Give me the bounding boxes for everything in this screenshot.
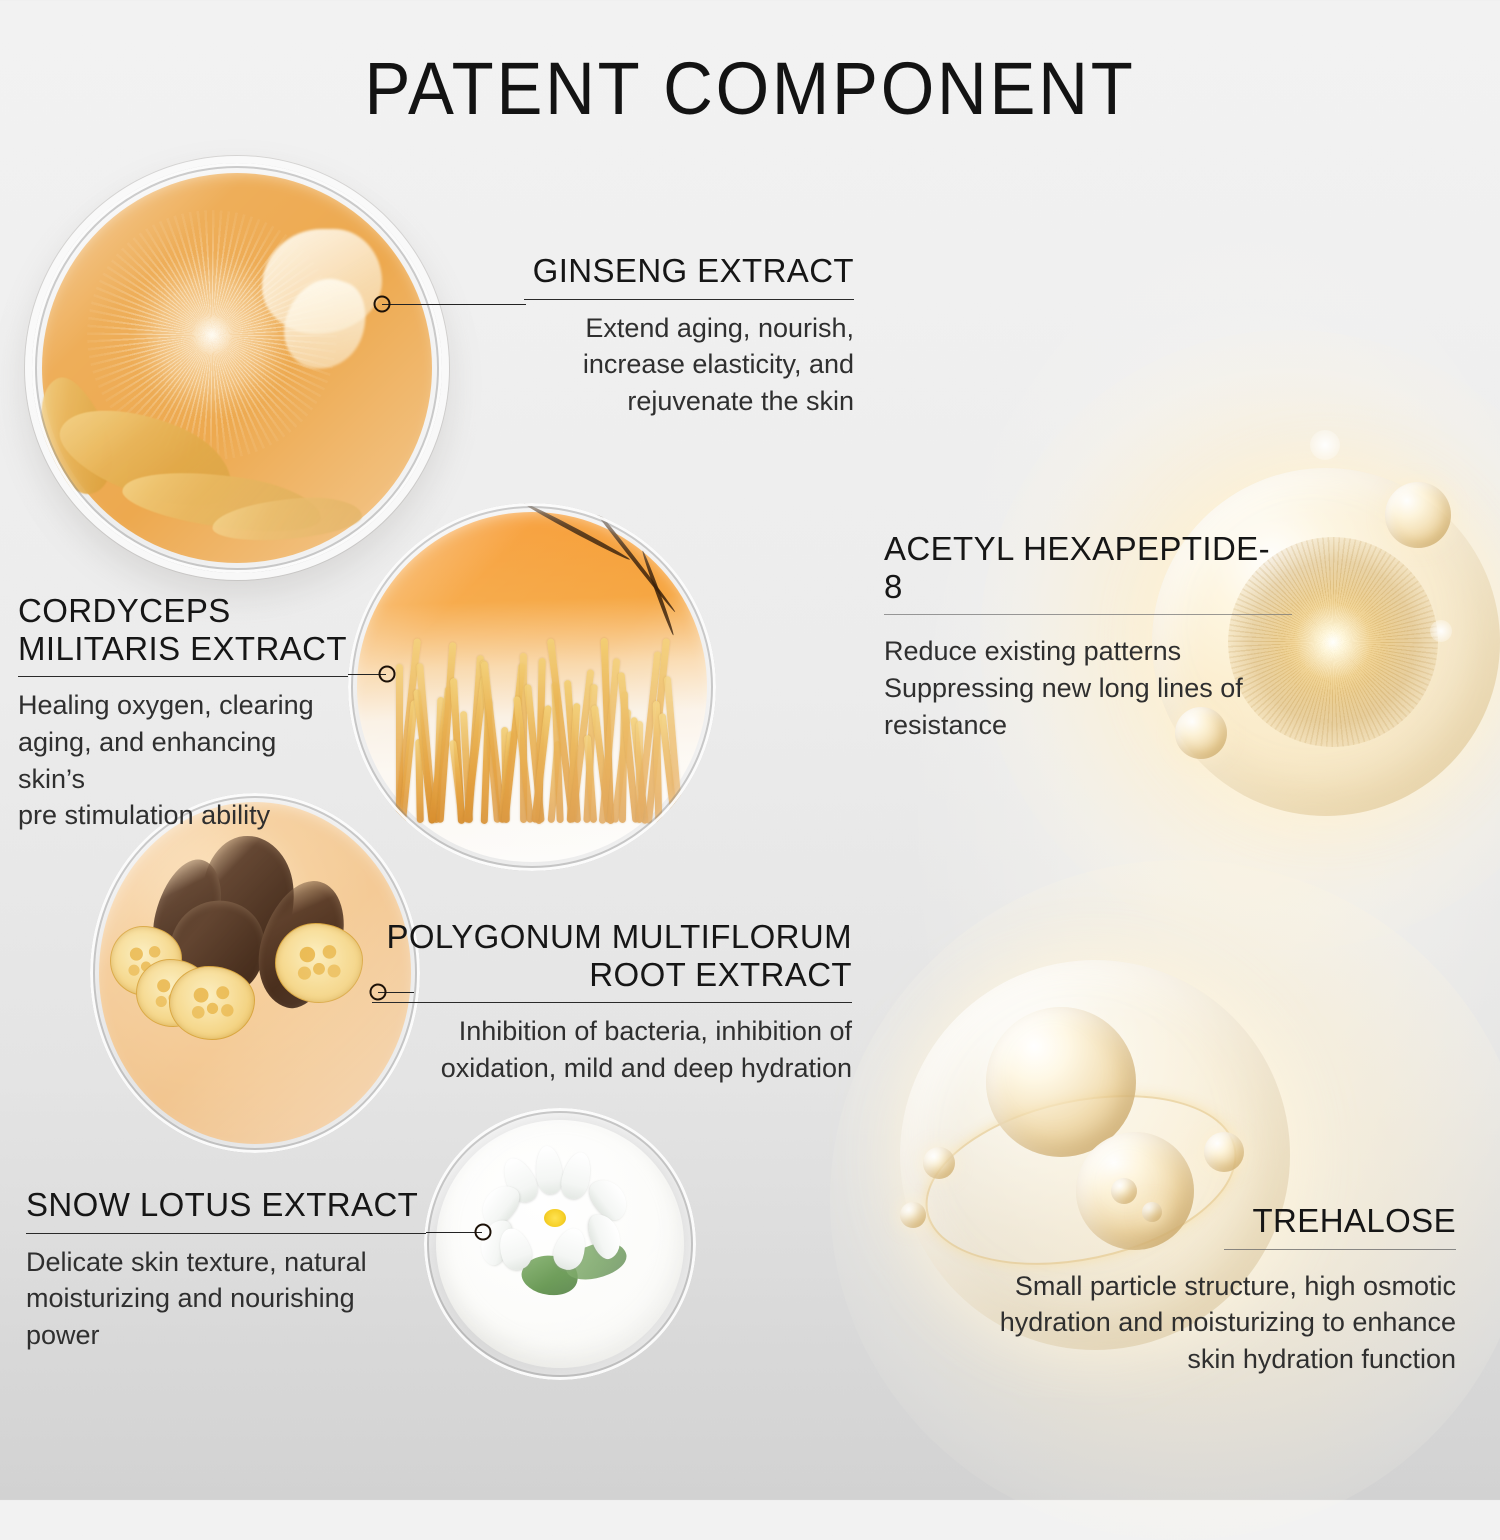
callout-trehalose: TREHALOSE Small particle structure, high… bbox=[978, 1202, 1456, 1378]
callout-trehalose-rule bbox=[1224, 1249, 1456, 1250]
callout-snow-lotus-rule bbox=[26, 1233, 426, 1234]
leader-line-ginseng bbox=[382, 304, 526, 305]
callout-ginseng-body: Extend aging, nourish, increase elastici… bbox=[524, 310, 854, 420]
trehalose-bubble-small-3 bbox=[1204, 1132, 1244, 1172]
hexa-satellite-bubble-top bbox=[1385, 482, 1451, 548]
callout-polygonum-body: Inhibition of bacteria, inhibition of ox… bbox=[372, 1013, 852, 1086]
callout-ginseng: GINSENG EXTRACT Extend aging, nourish, i… bbox=[524, 252, 854, 420]
callout-cordyceps-heading: CORDYCEPS MILITARIS EXTRACT bbox=[18, 592, 348, 667]
trehalose-bubble-small-4 bbox=[1111, 1178, 1137, 1204]
trehalose-bubble-small-2 bbox=[900, 1202, 926, 1228]
connector-dot-polygonum bbox=[370, 984, 387, 1001]
callout-trehalose-body: Small particle structure, high osmotic h… bbox=[978, 1268, 1456, 1378]
callout-snow-lotus: SNOW LOTUS EXTRACT Delicate skin texture… bbox=[26, 1186, 426, 1354]
callout-hexapeptide-heading: ACETYL HEXAPEPTIDE-8 bbox=[884, 530, 1284, 605]
callout-cordyceps-rule bbox=[18, 676, 348, 677]
callout-polygonum: POLYGONUM MULTIFLORUM ROOT EXTRACT Inhib… bbox=[372, 918, 852, 1087]
callout-polygonum-heading: POLYGONUM MULTIFLORUM ROOT EXTRACT bbox=[372, 918, 852, 993]
cordyceps-petri-dish-image bbox=[348, 503, 716, 871]
callout-snow-lotus-body: Delicate skin texture, natural moisturiz… bbox=[26, 1244, 426, 1354]
polygonum-dish-rim bbox=[90, 793, 420, 1153]
callout-acetyl-hexapeptide-8: ACETYL HEXAPEPTIDE-8 Reduce existing pat… bbox=[884, 530, 1284, 743]
callout-cordyceps-body: Healing oxygen, clearing aging, and enha… bbox=[18, 687, 348, 834]
callout-hexapeptide-body: Reduce existing patterns Suppressing new… bbox=[884, 633, 1284, 743]
infographic-canvas: PATENT COMPONENT bbox=[0, 0, 1500, 1500]
connector-dot-ginseng bbox=[374, 296, 391, 313]
page-title: PATENT COMPONENT bbox=[53, 46, 1448, 131]
trehalose-inner-bubble-large bbox=[986, 1007, 1136, 1157]
hexa-sparkle-1 bbox=[1310, 430, 1340, 460]
hexa-sparkle-2 bbox=[1430, 620, 1452, 642]
callout-polygonum-rule bbox=[372, 1002, 852, 1003]
snow-lotus-petri-dish-image bbox=[424, 1108, 696, 1380]
callout-snow-lotus-heading: SNOW LOTUS EXTRACT bbox=[26, 1186, 426, 1224]
polygonum-petri-dish-image bbox=[90, 793, 420, 1153]
ginseng-dish-outer-ring bbox=[25, 156, 449, 580]
callout-trehalose-heading: TREHALOSE bbox=[978, 1202, 1456, 1240]
connector-dot-cordyceps bbox=[379, 666, 396, 683]
callout-ginseng-heading: GINSENG EXTRACT bbox=[524, 252, 854, 290]
callout-cordyceps: CORDYCEPS MILITARIS EXTRACT Healing oxyg… bbox=[18, 592, 348, 834]
callout-ginseng-rule bbox=[524, 299, 854, 300]
lotus-dish-rim bbox=[424, 1108, 696, 1380]
cordyceps-dish-rim bbox=[348, 503, 716, 871]
callout-hexapeptide-rule bbox=[884, 614, 1292, 615]
connector-dot-snow-lotus bbox=[475, 1224, 492, 1241]
